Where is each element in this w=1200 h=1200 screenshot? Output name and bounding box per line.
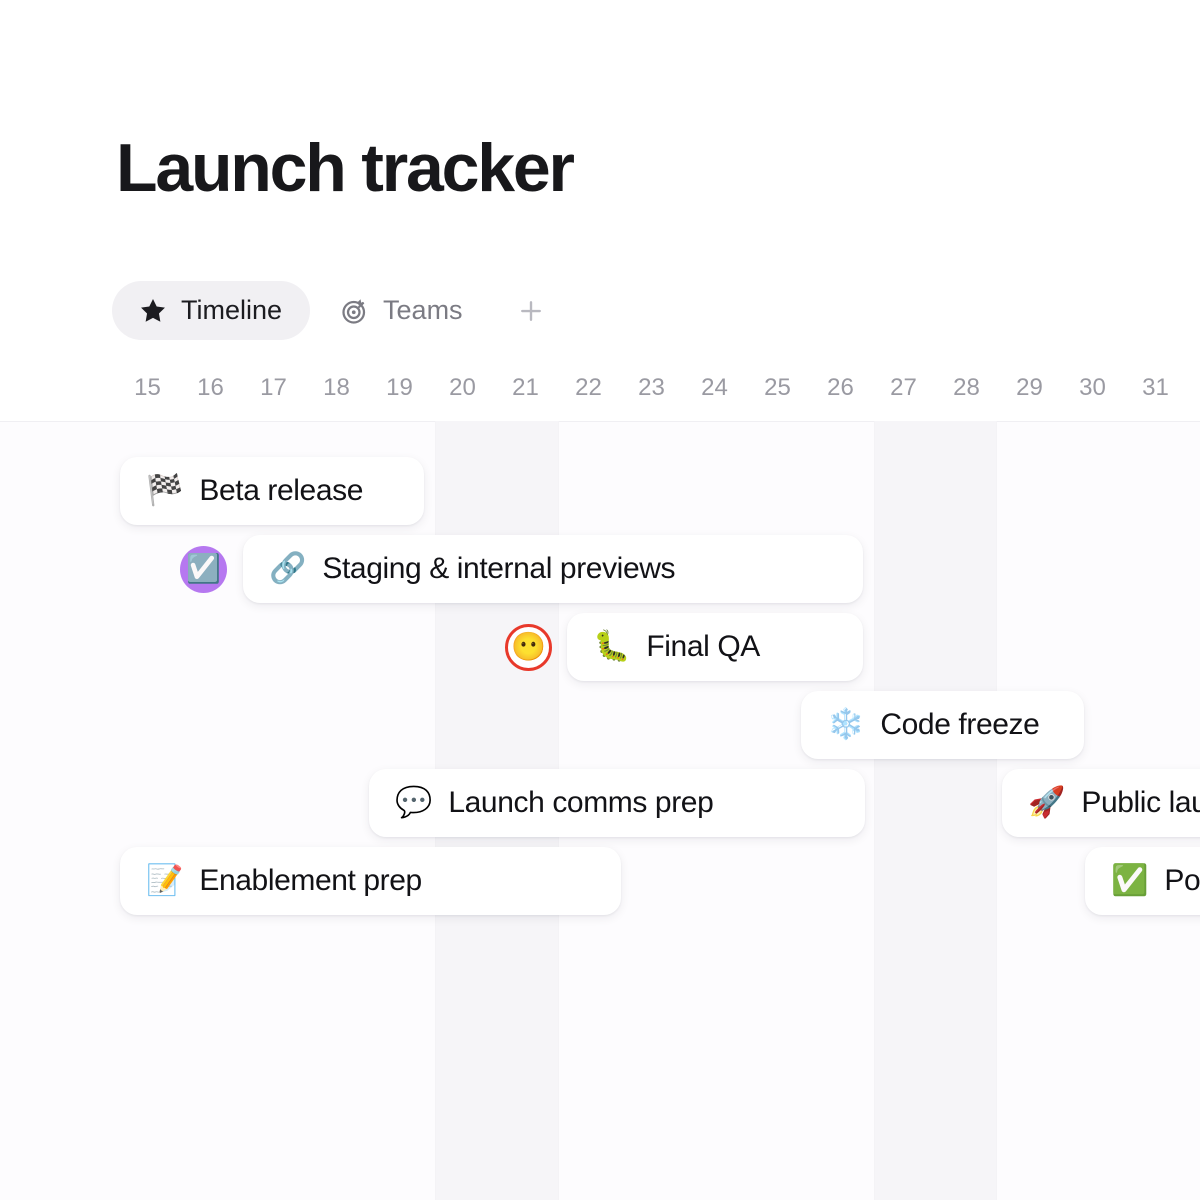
date-tick-15: 15 <box>116 374 179 402</box>
speech-balloon-icon: 💬 <box>395 788 432 818</box>
date-tick-18: 18 <box>305 374 368 402</box>
task-label: Final QA <box>646 630 760 664</box>
task-pill[interactable]: 🏁Beta release <box>120 457 424 525</box>
task-pill[interactable]: 🚀Public launch <box>1002 769 1200 837</box>
add-tab-button[interactable] <box>507 287 555 335</box>
target-icon <box>340 296 370 326</box>
snowflake-icon: ❄️ <box>827 710 864 740</box>
date-tick-27: 27 <box>872 374 935 402</box>
task-label: Public launch <box>1081 786 1200 820</box>
date-tick-17: 17 <box>242 374 305 402</box>
date-tick-19: 19 <box>368 374 431 402</box>
star-icon <box>138 296 168 326</box>
date-tick-31: 31 <box>1124 374 1187 402</box>
check-mark-icon: ✅ <box>1111 866 1148 896</box>
date-tick-30: 30 <box>1061 374 1124 402</box>
date-tick-25: 25 <box>746 374 809 402</box>
plus-icon <box>516 296 546 326</box>
task-pill[interactable]: ✅Post-launch review <box>1085 847 1200 915</box>
bug-icon: 🐛 <box>593 632 630 662</box>
date-tick-28: 28 <box>935 374 998 402</box>
task-row: ❄️Code freeze <box>0 691 1200 759</box>
task-label: Staging & internal previews <box>322 552 675 586</box>
tab-timeline[interactable]: Timeline <box>112 281 310 340</box>
task-label: Beta release <box>199 474 363 508</box>
task-label: Enablement prep <box>199 864 422 898</box>
date-tick-23: 23 <box>620 374 683 402</box>
memo-icon: 📝 <box>146 866 183 896</box>
tab-teams[interactable]: Teams <box>314 281 491 340</box>
person-face-avatar[interactable]: 😶 <box>505 624 552 671</box>
date-tick-16: 16 <box>179 374 242 402</box>
task-pill[interactable]: 🔗Staging & internal previews <box>243 535 863 603</box>
task-row: ☑️🔗Staging & internal previews <box>0 535 1200 603</box>
date-ruler: 1516171819202122232425262728293031 <box>0 372 1200 421</box>
tab-bar: Timeline Teams <box>112 281 555 340</box>
task-pill[interactable]: 📝Enablement prep <box>120 847 621 915</box>
page-title: Launch tracker <box>116 134 573 202</box>
task-row: 😶🐛Final QA <box>0 613 1200 681</box>
date-tick-29: 29 <box>998 374 1061 402</box>
task-pill[interactable]: ❄️Code freeze <box>801 691 1084 759</box>
date-tick-24: 24 <box>683 374 746 402</box>
link-icon: 🔗 <box>269 554 306 584</box>
timeline-view: 1516171819202122232425262728293031 🏁Beta… <box>0 372 1200 1200</box>
task-label: Launch comms prep <box>448 786 713 820</box>
date-tick-22: 22 <box>557 374 620 402</box>
task-row: 🏁Beta release <box>0 457 1200 525</box>
checkered-flag-icon: 🏁 <box>146 476 183 506</box>
task-pill[interactable]: 💬Launch comms prep <box>369 769 865 837</box>
task-pill[interactable]: 🐛Final QA <box>567 613 863 681</box>
task-label: Post-launch review <box>1164 864 1200 898</box>
ballot-check-avatar[interactable]: ☑️ <box>180 546 227 593</box>
date-tick-26: 26 <box>809 374 872 402</box>
tab-timeline-label: Timeline <box>181 295 282 326</box>
rocket-icon: 🚀 <box>1028 788 1065 818</box>
date-tick-20: 20 <box>431 374 494 402</box>
tab-teams-label: Teams <box>383 295 463 326</box>
task-rows: 🏁Beta release☑️🔗Staging & internal previ… <box>0 421 1200 1200</box>
task-label: Code freeze <box>880 708 1039 742</box>
date-tick-21: 21 <box>494 374 557 402</box>
